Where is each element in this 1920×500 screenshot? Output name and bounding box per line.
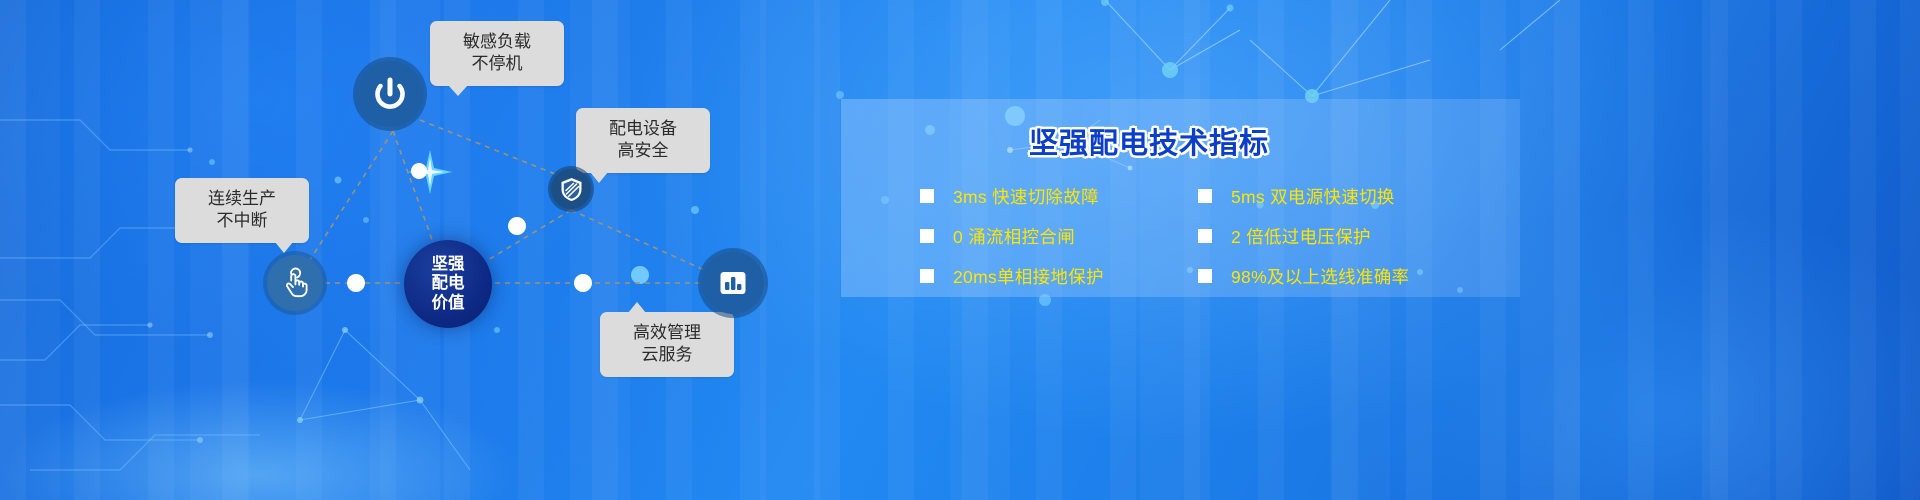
tooltip-tail xyxy=(448,85,468,96)
bullet-square-icon xyxy=(920,189,934,203)
connector-dot xyxy=(411,163,427,179)
connector-dot xyxy=(574,274,592,292)
metric-item: 3ms 快速切除故障 xyxy=(920,176,1198,216)
tooltip-line-1: 连续生产 xyxy=(189,188,295,210)
metric-item: 2 倍低过电压保护 xyxy=(1198,216,1498,256)
core-value-circle: 坚强 配电 价值 xyxy=(404,240,492,328)
metric-label: 0 涌流相控合闸 xyxy=(953,224,1075,249)
tooltip-line-1: 敏感负载 xyxy=(444,31,550,53)
tooltip-line-2: 不中断 xyxy=(189,210,295,232)
metric-label: 2 倍低过电压保护 xyxy=(1231,224,1371,249)
touch-node[interactable] xyxy=(267,255,323,311)
tooltip-line-2: 云服务 xyxy=(614,344,720,366)
metric-label: 5ms 双电源快速切换 xyxy=(1231,184,1395,209)
metric-item: 98%及以上选线准确率 xyxy=(1198,256,1498,296)
bullet-square-icon xyxy=(1198,189,1212,203)
power-node[interactable] xyxy=(357,61,423,127)
connector-dot xyxy=(508,217,526,235)
metric-label: 20ms单相接地保护 xyxy=(953,264,1104,289)
core-line-3: 价值 xyxy=(432,294,465,313)
value-network-diagram: 敏感负载 不停机 配电设备 高安全 连续生产 不中断 高效管理 云服务 xyxy=(0,0,840,500)
bullet-square-icon xyxy=(1198,269,1212,283)
core-line-2: 配电 xyxy=(432,274,465,293)
bullet-square-icon xyxy=(920,229,934,243)
tooltip-line-2: 不停机 xyxy=(444,53,550,75)
core-label: 坚强 配电 价值 xyxy=(432,255,465,313)
bar-chart-icon xyxy=(716,266,750,300)
hand-touch-icon xyxy=(278,266,312,300)
shield-node[interactable] xyxy=(551,169,591,209)
tooltip-equipment-safety: 配电设备 高安全 xyxy=(576,108,710,173)
promo-banner: 敏感负载 不停机 配电设备 高安全 连续生产 不中断 高效管理 云服务 xyxy=(0,0,1920,500)
metric-label: 3ms 快速切除故障 xyxy=(953,184,1099,209)
core-line-1: 坚强 xyxy=(432,255,465,274)
panel-title: 坚强配电技术指标 xyxy=(1029,120,1269,162)
tooltip-sensitive-load: 敏感负载 不停机 xyxy=(430,21,564,86)
tooltip-continuous-production: 连续生产 不中断 xyxy=(175,178,309,243)
tooltip-line-1: 高效管理 xyxy=(614,322,720,344)
metrics-grid: 3ms 快速切除故障 5ms 双电源快速切换 0 涌流相控合闸 2 倍低过电压保… xyxy=(920,176,1520,296)
tooltip-line-2: 高安全 xyxy=(590,140,696,162)
shield-icon xyxy=(560,177,583,202)
tooltip-line-1: 配电设备 xyxy=(590,118,696,140)
bullet-square-icon xyxy=(1198,229,1212,243)
bullet-square-icon xyxy=(920,269,934,283)
metric-item: 0 涌流相控合闸 xyxy=(920,216,1198,256)
tooltip-tail xyxy=(275,242,293,253)
metric-item: 20ms单相接地保护 xyxy=(920,256,1198,296)
chart-node[interactable] xyxy=(702,252,764,314)
metric-item: 5ms 双电源快速切换 xyxy=(1198,176,1498,216)
metric-label: 98%及以上选线准确率 xyxy=(1231,264,1409,289)
tooltip-tail xyxy=(628,302,646,313)
connector-dot xyxy=(347,274,365,292)
tooltip-cloud-management: 高效管理 云服务 xyxy=(600,312,734,377)
tooltip-tail xyxy=(590,172,608,183)
power-icon xyxy=(371,75,409,113)
